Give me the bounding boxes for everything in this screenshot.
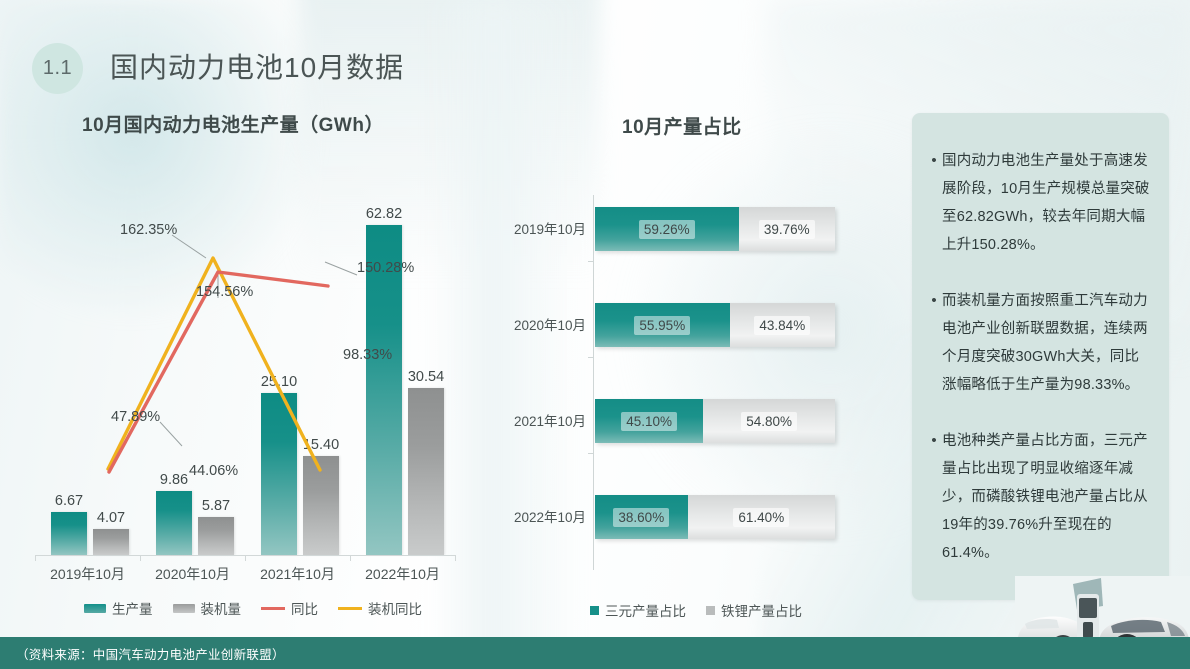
legend-swatch-icon	[173, 604, 195, 613]
legend-item-installed[interactable]: 装机量	[173, 598, 242, 618]
bullet-dot-icon: •	[926, 427, 942, 567]
x-axis-tick	[245, 555, 246, 561]
segment-value-label: 45.10%	[621, 412, 677, 431]
legend-label: 同比	[291, 598, 318, 618]
x-axis-label: 2021年10月	[245, 564, 350, 584]
x-axis-label: 2019年10月	[35, 564, 140, 584]
legend-item-yoy[interactable]: 同比	[261, 598, 318, 618]
segment-value-label: 38.60%	[613, 508, 669, 527]
stack-row: 2022年10月 38.60% 61.40%	[500, 495, 880, 539]
section-number-badge: 1.1	[32, 43, 83, 94]
stack-bar: 45.10% 54.80%	[595, 399, 835, 443]
line-value-label: 44.06%	[189, 463, 238, 479]
segment-lfp: 54.80%	[703, 399, 835, 443]
stack-row: 2020年10月 55.95% 43.84%	[500, 303, 880, 347]
stack-row-label: 2022年10月	[500, 506, 586, 526]
production-combo-chart: 6.67 4.07 9.86 5.87 25.10 15.40 62.82 30…	[10, 150, 480, 620]
stack-row-label: 2020年10月	[500, 314, 586, 334]
legend-swatch-icon	[706, 606, 715, 615]
stack-row: 2021年10月 45.10% 54.80%	[500, 399, 880, 443]
stack-row: 2019年10月 59.26% 39.76%	[500, 207, 880, 251]
legend-item-ternary-share[interactable]: 三元产量占比	[590, 600, 686, 620]
legend-item-installed-yoy[interactable]: 装机同比	[338, 598, 422, 618]
stack-row-label: 2019年10月	[500, 218, 586, 238]
legend-line-icon	[338, 607, 362, 610]
segment-value-label: 61.40%	[733, 508, 789, 527]
line-value-label: 162.35%	[120, 222, 177, 238]
segment-ternary: 59.26%	[595, 207, 739, 251]
insight-text: 而装机量方面按照重工汽车动力电池产业创新联盟数据，连续两个月度突破30GWh大关…	[942, 287, 1151, 399]
legend-label: 装机同比	[368, 598, 422, 618]
insight-bullet: • 国内动力电池生产量处于高速发展阶段，10月生产规模总量突破至62.82GWh…	[926, 147, 1151, 259]
x-axis-labels: 2019年10月 2020年10月 2021年10月 2022年10月	[35, 564, 455, 588]
stack-row-label: 2021年10月	[500, 410, 586, 430]
right-chart-legend: 三元产量占比 铁锂产量占比	[590, 600, 813, 620]
segment-lfp: 61.40%	[688, 495, 835, 539]
insights-panel: • 国内动力电池生产量处于高速发展阶段，10月生产规模总量突破至62.82GWh…	[912, 113, 1169, 600]
stack-bar: 38.60% 61.40%	[595, 495, 835, 539]
stack-bar: 59.26% 39.76%	[595, 207, 835, 251]
legend-item-production[interactable]: 生产量	[84, 598, 153, 618]
left-chart-title: 10月国内动力电池生产量（GWh）	[82, 110, 384, 137]
insight-text: 国内动力电池生产量处于高速发展阶段，10月生产规模总量突破至62.82GWh，较…	[942, 147, 1151, 259]
x-axis-tick	[350, 555, 351, 561]
legend-item-lfp-share[interactable]: 铁锂产量占比	[706, 600, 802, 620]
stack-bar: 55.95% 43.84%	[595, 303, 835, 347]
segment-value-label: 59.26%	[639, 220, 695, 239]
x-axis-tick	[35, 555, 36, 561]
legend-label: 铁锂产量占比	[721, 600, 802, 620]
legend-line-icon	[261, 607, 285, 610]
y-axis-tick	[588, 357, 594, 358]
legend-label: 装机量	[201, 598, 242, 618]
x-axis-label: 2020年10月	[140, 564, 245, 584]
segment-value-label: 39.76%	[759, 220, 815, 239]
x-axis-tick	[455, 555, 456, 561]
legend-label: 生产量	[112, 598, 153, 618]
segment-lfp: 43.84%	[730, 303, 835, 347]
share-stacked-chart: 2019年10月 59.26% 39.76% 2020年10月 55.95% 4…	[500, 185, 880, 585]
line-value-label: 47.89%	[111, 409, 160, 425]
segment-ternary: 55.95%	[595, 303, 730, 347]
segment-ternary: 45.10%	[595, 399, 703, 443]
page-title: 国内动力电池10月数据	[110, 46, 404, 86]
insight-text: 电池种类产量占比方面，三元产量占比出现了明显收缩逐年减少，而磷酸铁锂电池产量占比…	[942, 427, 1151, 567]
legend-swatch-icon	[84, 604, 106, 613]
segment-value-label: 54.80%	[741, 412, 797, 431]
y-axis-tick	[588, 261, 594, 262]
trend-lines	[10, 150, 480, 560]
left-chart-legend: 生产量 装机量 同比 装机同比	[84, 598, 433, 618]
segment-ternary: 38.60%	[595, 495, 688, 539]
legend-label: 三元产量占比	[605, 600, 686, 620]
segment-value-label: 43.84%	[754, 316, 810, 335]
bullet-dot-icon: •	[926, 287, 942, 399]
source-text: （资料来源：中国汽车动力电池产业创新联盟）	[0, 644, 285, 663]
x-axis-tick	[140, 555, 141, 561]
line-value-label: 98.33%	[343, 347, 392, 363]
right-chart-title: 10月产量占比	[622, 112, 742, 139]
line-value-label: 154.56%	[196, 284, 253, 300]
line-value-label: 150.28%	[357, 260, 414, 276]
segment-lfp: 39.76%	[739, 207, 835, 251]
y-axis-tick	[588, 453, 594, 454]
insight-bullet: • 而装机量方面按照重工汽车动力电池产业创新联盟数据，连续两个月度突破30GWh…	[926, 287, 1151, 399]
insight-bullet: • 电池种类产量占比方面，三元产量占比出现了明显收缩逐年减少，而磷酸铁锂电池产量…	[926, 427, 1151, 567]
source-bar: （资料来源：中国汽车动力电池产业创新联盟）	[0, 637, 1190, 669]
bullet-dot-icon: •	[926, 147, 942, 259]
x-axis-label: 2022年10月	[350, 564, 455, 584]
segment-value-label: 55.95%	[634, 316, 690, 335]
legend-swatch-icon	[590, 606, 599, 615]
